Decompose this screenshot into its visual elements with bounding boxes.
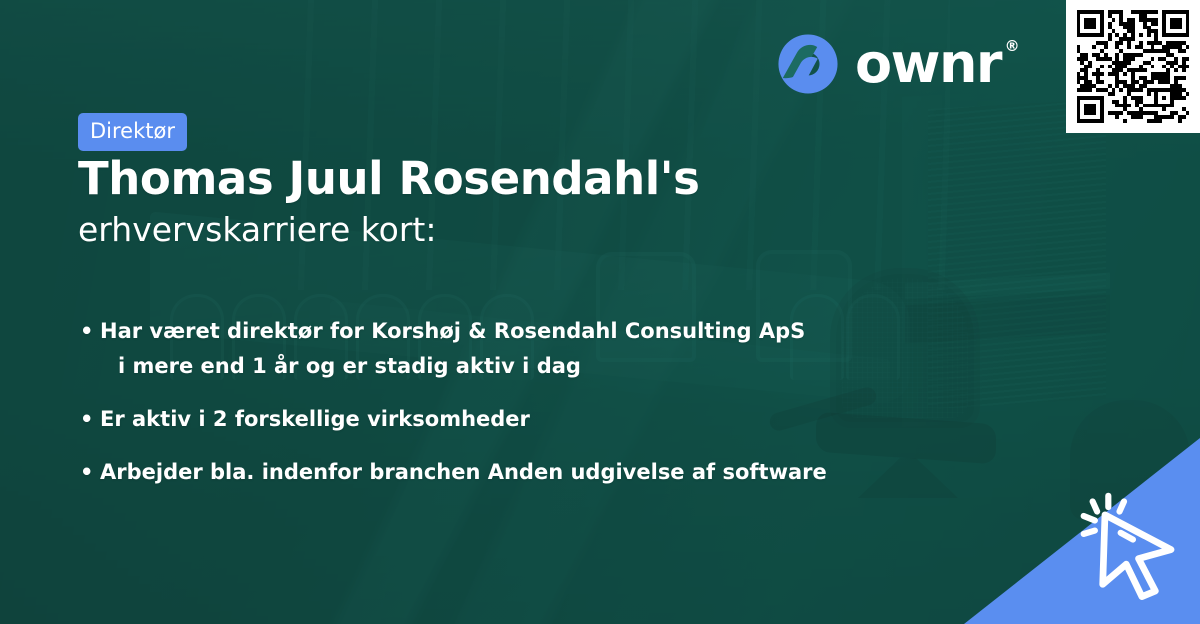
bullet-dot-icon: • bbox=[80, 404, 100, 435]
bullet-dot-icon: • bbox=[80, 316, 100, 347]
role-badge: Direktør bbox=[78, 113, 187, 151]
list-item-line2: i mere end 1 år og er stadig aktiv i dag bbox=[100, 351, 960, 382]
registered-trademark-icon: ® bbox=[1005, 39, 1019, 54]
list-item-text: Har været direktør for Korshøj & Rosenda… bbox=[100, 316, 960, 382]
mouse-click-cursor-icon bbox=[1068, 488, 1180, 600]
career-facts-list: • Har været direktør for Korshøj & Rosen… bbox=[80, 316, 960, 510]
qr-code-panel[interactable] bbox=[1066, 0, 1200, 133]
ownr-wordmark-text: ownr bbox=[855, 32, 1001, 95]
list-item: • Har været direktør for Korshøj & Rosen… bbox=[80, 316, 960, 382]
list-item-line1: Har været direktør for Korshøj & Rosenda… bbox=[100, 319, 805, 343]
list-item: • Arbejder bla. indenfor branchen Anden … bbox=[80, 457, 960, 488]
ownr-circular-swoosh-mark bbox=[777, 33, 839, 95]
list-item-text: Er aktiv i 2 forskellige virksomheder bbox=[100, 404, 960, 435]
bullet-dot-icon: • bbox=[80, 457, 100, 488]
list-item: • Er aktiv i 2 forskellige virksomheder bbox=[80, 404, 960, 435]
list-item-line1: Arbejder bla. indenfor branchen Anden ud… bbox=[100, 460, 827, 484]
ownr-logo[interactable]: ownr ® bbox=[777, 33, 1001, 95]
page-subtitle: erhvervskarriere kort: bbox=[78, 210, 437, 250]
teal-color-overlay-2 bbox=[0, 0, 1200, 624]
list-item-text: Arbejder bla. indenfor branchen Anden ud… bbox=[100, 457, 960, 488]
page-title: Thomas Juul Rosendahl's bbox=[78, 154, 700, 204]
business-career-card: ownr ® Direktør Thomas Juul Rosendahl's … bbox=[0, 0, 1200, 624]
ownr-wordmark: ownr ® bbox=[855, 37, 1001, 91]
list-item-line1: Er aktiv i 2 forskellige virksomheder bbox=[100, 407, 530, 431]
qr-code[interactable] bbox=[1077, 10, 1190, 123]
